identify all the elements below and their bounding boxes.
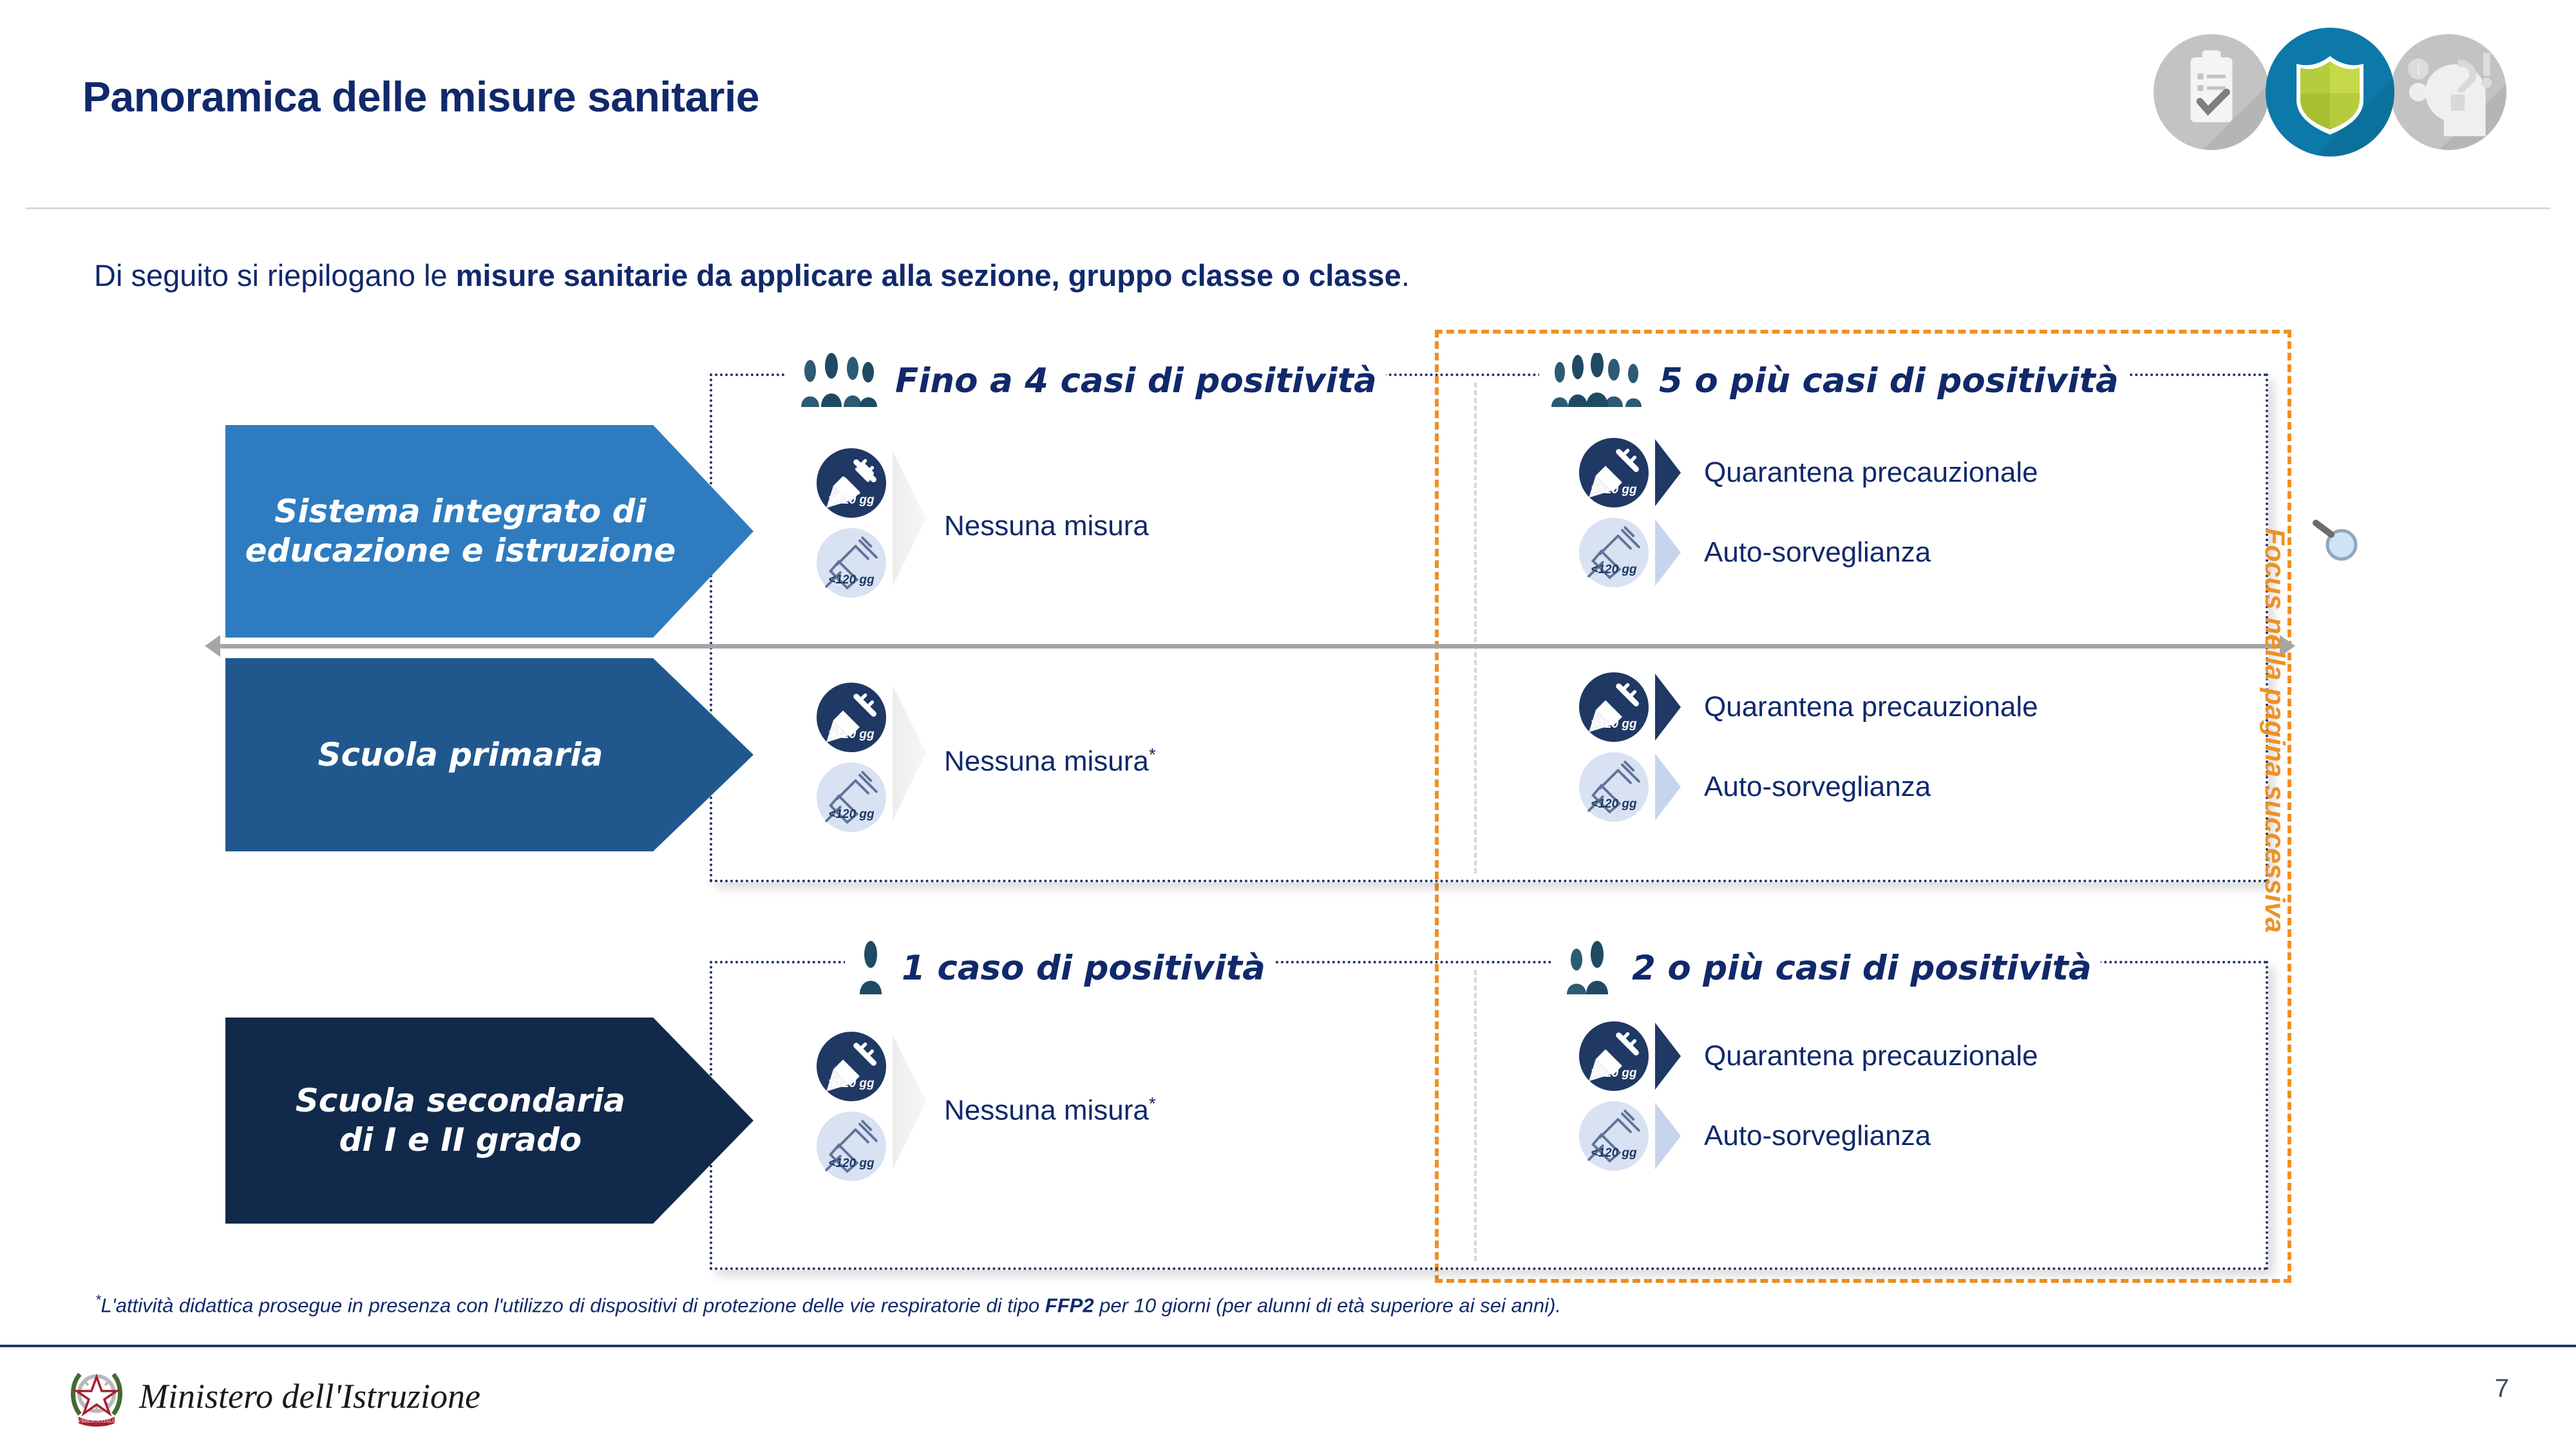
measure-label-text: Nessuna misura	[944, 1095, 1149, 1126]
banner-scuola-primaria[interactable]: Scuola primaria	[225, 658, 753, 851]
banner-scuola-secondaria[interactable]: Scuola secondaria di I e II grado	[225, 1018, 753, 1224]
column-header-label: 5 o più casi di positività	[1659, 361, 2119, 401]
measure-label-span: Nessuna misura	[944, 510, 1149, 542]
banner-label: Scuola primaria	[317, 735, 603, 775]
syringe-over-120-icon: >120 gg	[1579, 438, 1649, 507]
measure-row-under: <120 gg Auto-sorveglianza	[1579, 747, 2038, 827]
banner-label: Sistema integrato di educazione e istruz…	[245, 492, 676, 571]
measure-row-over: >120 gg	[817, 1027, 886, 1106]
vaccination-window-label: >120 gg	[817, 728, 886, 742]
header-icon-group: i	[2154, 31, 2506, 153]
syringe-under-120-icon: <120 gg	[1579, 518, 1649, 587]
people-group-icon	[1548, 353, 1645, 408]
footer-divider	[0, 1345, 2576, 1347]
measure-row-over: >120 gg Quarantena precauzionale	[1579, 667, 2038, 747]
footnote-marker: *	[1149, 744, 1156, 764]
column-header-2-o-piu: 2 o più casi di positività	[1553, 940, 2101, 996]
page-number: 7	[2495, 1374, 2509, 1403]
footer-logo: REPVBBLICA ITALIANA Ministero dell'Istru…	[67, 1363, 480, 1430]
measure-row-over: >120 gg Quarantena precauzionale	[1579, 433, 2038, 513]
measure-group-b: >120 gg Quarantena precauzionale <120 gg…	[1579, 433, 2038, 592]
shield-icon	[2266, 28, 2394, 156]
measure-label-quarantena: Quarantena precauzionale	[1704, 457, 2038, 489]
measure-label-autosorveglianza: Auto-sorveglianza	[1704, 536, 1931, 569]
column-header-label: 2 o più casi di positività	[1632, 949, 2092, 988]
syringe-over-120-icon: >120 gg	[1579, 1021, 1649, 1091]
page-title: Panoramica delle misure sanitarie	[82, 72, 759, 121]
slide: Panoramica delle misure sanitarie	[0, 0, 2576, 1449]
split-line-cap-left	[205, 635, 220, 657]
measure-group-f: >120 gg Quarantena precauzionale <120 gg…	[1579, 1016, 2038, 1176]
ministry-name: Ministero dell'Istruzione	[139, 1376, 480, 1416]
measure-arrow-dark	[1655, 1023, 1681, 1090]
measure-label-text: Nessuna misura	[944, 510, 1149, 542]
measure-arrow-dark	[1655, 674, 1681, 741]
syringe-under-120-icon: <120 gg	[1579, 1101, 1649, 1171]
measure-arrow-dark	[1655, 439, 1681, 506]
intro-suffix: .	[1401, 258, 1410, 292]
footnote: *L'attività didattica prosegue in presen…	[95, 1292, 1561, 1317]
person-icon	[854, 940, 887, 996]
footnote-pre: L'attività didattica prosegue in presenz…	[101, 1294, 1045, 1316]
panel-inner-divider	[1474, 970, 1477, 1261]
svg-text:REPVBBLICA ITALIANA: REPVBBLICA ITALIANA	[68, 1418, 126, 1424]
people-pair-icon	[1562, 940, 1618, 996]
intro-text: Di seguito si riepilogano le misure sani…	[94, 258, 1410, 293]
measure-arrow-light	[1655, 1103, 1681, 1170]
clipboard-check-icon	[2154, 34, 2269, 150]
measure-row-over: >120 gg	[817, 677, 886, 757]
measure-row-under: <120 gg Auto-sorveglianza	[1579, 1096, 2038, 1176]
measure-row-under: <120 gg Auto-sorveglianza	[1579, 513, 2038, 592]
split-line	[219, 644, 2280, 649]
intro-prefix: Di seguito si riepilogano le	[94, 258, 456, 292]
banner-sistema-integrato[interactable]: Sistema integrato di educazione e istruz…	[225, 425, 753, 638]
measure-label-span: Nessuna misura*	[944, 744, 1156, 778]
people-group-icon	[796, 353, 881, 408]
intro-bold: misure sanitarie da applicare alla sezio…	[456, 258, 1401, 292]
measure-label-quarantena: Quarantena precauzionale	[1704, 691, 2038, 723]
measure-label-autosorveglianza: Auto-sorveglianza	[1704, 1120, 1931, 1152]
svg-text:i: i	[2417, 61, 2420, 78]
vaccination-window-label: >120 gg	[1579, 717, 1649, 732]
magnifier-icon	[2311, 515, 2362, 567]
vaccination-window-label: >120 gg	[1579, 1066, 1649, 1081]
measure-row-over: >120 gg Quarantena precauzionale	[1579, 1016, 2038, 1096]
syringe-under-120-icon: <120 gg	[817, 1112, 886, 1181]
syringe-under-120-icon: <120 gg	[817, 528, 886, 598]
syringe-under-120-icon: <120 gg	[1579, 752, 1649, 822]
vaccination-window-label: >120 gg	[817, 1077, 886, 1091]
vaccination-window-label: <120 gg	[817, 808, 886, 822]
vaccination-window-label: >120 gg	[817, 493, 886, 507]
head-question-icon: i	[2391, 34, 2506, 150]
banner-label: Scuola secondaria di I e II grado	[296, 1081, 625, 1160]
footnote-post: per 10 giorni (per alunni di età superio…	[1094, 1294, 1561, 1316]
vaccination-window-label: <120 gg	[1579, 797, 1649, 811]
italian-republic-emblem-icon: REPVBBLICA ITALIANA	[67, 1363, 126, 1430]
vaccination-window-label: <120 gg	[817, 573, 886, 587]
column-header-1-caso: 1 caso di positività	[845, 940, 1274, 996]
syringe-over-120-icon: >120 gg	[817, 683, 886, 752]
syringe-over-120-icon: >120 gg	[1579, 672, 1649, 742]
measure-row-under: <120 gg	[817, 523, 918, 603]
measure-label-text: Nessuna misura	[944, 746, 1149, 777]
measure-label-span: Nessuna misura*	[944, 1094, 1156, 1127]
footnote-bold: FFP2	[1045, 1294, 1094, 1316]
measure-group-d: >120 gg Quarantena precauzionale <120 gg…	[1579, 667, 2038, 827]
syringe-under-120-icon: <120 gg	[817, 762, 886, 832]
panel-inner-divider	[1474, 383, 1477, 873]
vaccination-window-label: <120 gg	[817, 1157, 886, 1171]
footnote-marker: *	[1149, 1094, 1156, 1113]
measure-label-quarantena: Quarantena precauzionale	[1704, 1040, 2038, 1072]
header-divider	[26, 207, 2550, 209]
measure-label-autosorveglianza: Auto-sorveglianza	[1704, 771, 1931, 803]
measure-group-c: >120 gg <120 gg Nessuna misura*	[817, 677, 886, 837]
measure-group-e: >120 gg <120 gg Nessuna misura*	[817, 1027, 886, 1186]
measure-row-over: >120 gg	[817, 443, 918, 523]
syringe-over-120-icon: >120 gg	[817, 1032, 886, 1101]
measure-arrow-light	[1655, 519, 1681, 586]
focus-label: Focus nella pagina successiva	[2239, 528, 2290, 889]
measure-arrow-light	[1655, 753, 1681, 820]
footnote-marker: *	[95, 1292, 101, 1308]
vaccination-window-label: <120 gg	[1579, 1146, 1649, 1160]
column-header-label: Fino a 4 casi di positività	[895, 361, 1377, 401]
column-header-fino-a-4: Fino a 4 casi di positività	[787, 353, 1386, 408]
measure-row-under: <120 gg	[817, 1106, 886, 1186]
measure-row-under: <120 gg	[817, 757, 886, 837]
column-header-5-o-piu: 5 o più casi di positività	[1539, 353, 2128, 408]
vaccination-window-label: <120 gg	[1579, 563, 1649, 577]
vaccination-window-label: >120 gg	[1579, 483, 1649, 497]
column-header-label: 1 caso di positività	[902, 949, 1265, 988]
syringe-over-120-icon: >120 gg	[817, 448, 886, 518]
measure-group-a: >120 gg <120 gg Nessuna misura	[817, 443, 918, 603]
